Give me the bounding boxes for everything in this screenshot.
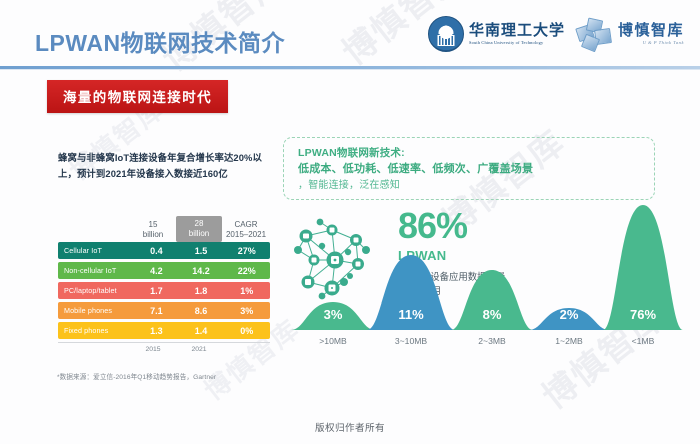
bozhen-logo: 博慎智库 U & P Think Tank — [575, 17, 684, 51]
lead-paragraph: 蜂窝与非蜂窝IoT连接设备年复合增长率达20%以上，预计到2021年设备接入数接… — [58, 150, 274, 183]
col-header-2015: 15billion — [130, 220, 176, 242]
bozhen-logo-en: U & P Think Tank — [618, 40, 684, 45]
table-footer-row: 2015 2021 — [58, 346, 270, 353]
table-divider — [58, 342, 270, 343]
scut-logo-cn: 华南理工大学 — [469, 23, 565, 39]
row-value-2021: 14.2 — [179, 266, 224, 276]
bell-curve-value: 2% — [560, 307, 579, 322]
table-row: PC/laptop/tablet1.71.81% — [58, 282, 270, 299]
row-label: PC/laptop/tablet — [58, 286, 134, 295]
bell-curve-value: 3% — [324, 307, 343, 322]
table-row: Mobile phones7.18.63% — [58, 302, 270, 319]
table-row: Cellular IoT0.41.527% — [58, 242, 270, 259]
footer-year-2015: 2015 — [130, 346, 176, 353]
logo-bar: 华南理工大学 South China University of Technol… — [428, 10, 684, 58]
row-label: Mobile phones — [58, 306, 134, 315]
header-divider — [0, 66, 700, 69]
row-value-2021: 1.8 — [179, 286, 224, 296]
row-value-cagr: 1% — [223, 286, 270, 296]
row-value-2015: 4.2 — [134, 266, 179, 276]
page-title: LPWAN物联网技术简介 — [35, 24, 285, 58]
callout-line-2: 低成本、低功耗、低速率、低频次、广覆盖场景 — [298, 161, 642, 178]
bell-curve-category: 3~10MB — [395, 336, 428, 346]
source-note: *数据来源：爱立信-2016年Q1移动趋势报告，Gartner — [57, 371, 297, 381]
row-label: Cellular IoT — [58, 246, 134, 255]
bell-curve-category: 1~2MB — [555, 336, 583, 346]
iot-forecast-table: 15billion 28billion CAGR2015–2021 Cellul… — [58, 206, 270, 353]
row-label: Non-cellular IoT — [58, 266, 134, 275]
row-value-2015: 1.3 — [134, 326, 179, 336]
bozhen-logo-cn: 博慎智库 — [618, 23, 684, 39]
bell-curve-value: 11% — [398, 307, 424, 322]
section-banner: 海量的物联网连接时代 — [47, 80, 228, 113]
row-label: Fixed phones — [58, 326, 134, 335]
table-header-row: 15billion 28billion CAGR2015–2021 — [58, 206, 270, 242]
bell-curve-category: <1MB — [632, 336, 655, 346]
scut-logo-en: South China University of Technology — [469, 40, 565, 45]
row-value-cagr: 0% — [223, 326, 270, 336]
row-value-cagr: 27% — [223, 246, 270, 256]
copyright-footer: 版权归作者所有 — [0, 420, 700, 434]
row-value-cagr: 3% — [223, 306, 270, 316]
cube-mark-icon — [575, 17, 613, 51]
scut-seal-icon — [428, 16, 464, 52]
table-body: Cellular IoT0.41.527%Non-cellular IoT4.2… — [58, 242, 270, 339]
slide-header: LPWAN物联网技术简介 华南理工大学 South China Universi… — [0, 0, 700, 68]
scut-logo: 华南理工大学 South China University of Technol… — [428, 16, 565, 52]
row-value-2021: 1.5 — [179, 246, 224, 256]
bell-curve-category: >10MB — [319, 336, 347, 346]
col-header-cagr: CAGR2015–2021 — [222, 220, 270, 242]
row-value-cagr: 22% — [223, 266, 270, 276]
row-value-2015: 7.1 — [134, 306, 179, 316]
callout-line-1: LPWAN物联网新技术: — [298, 145, 642, 161]
table-row: Fixed phones1.31.40% — [58, 322, 270, 339]
row-value-2021: 8.6 — [179, 306, 224, 316]
row-value-2015: 1.7 — [134, 286, 179, 296]
bell-curve-value: 8% — [483, 307, 502, 322]
row-value-2021: 1.4 — [179, 326, 224, 336]
row-value-2015: 0.4 — [134, 246, 179, 256]
bell-curve-value: 76% — [630, 307, 656, 322]
data-usage-distribution-chart: 3%>10MB11%3~10MB8%2~3MB2%1~2MB76%<1MB — [283, 190, 683, 350]
bell-curve-category: 2~3MB — [478, 336, 506, 346]
col-header-2021: 28billion — [176, 216, 222, 242]
slide: 博慎智库 博慎智库 博慎智库 博慎智库 博慎智库 博慎智库 LPWAN物联网技术… — [0, 0, 700, 444]
table-row: Non-cellular IoT4.214.222% — [58, 262, 270, 279]
footer-year-2021: 2021 — [176, 346, 222, 353]
